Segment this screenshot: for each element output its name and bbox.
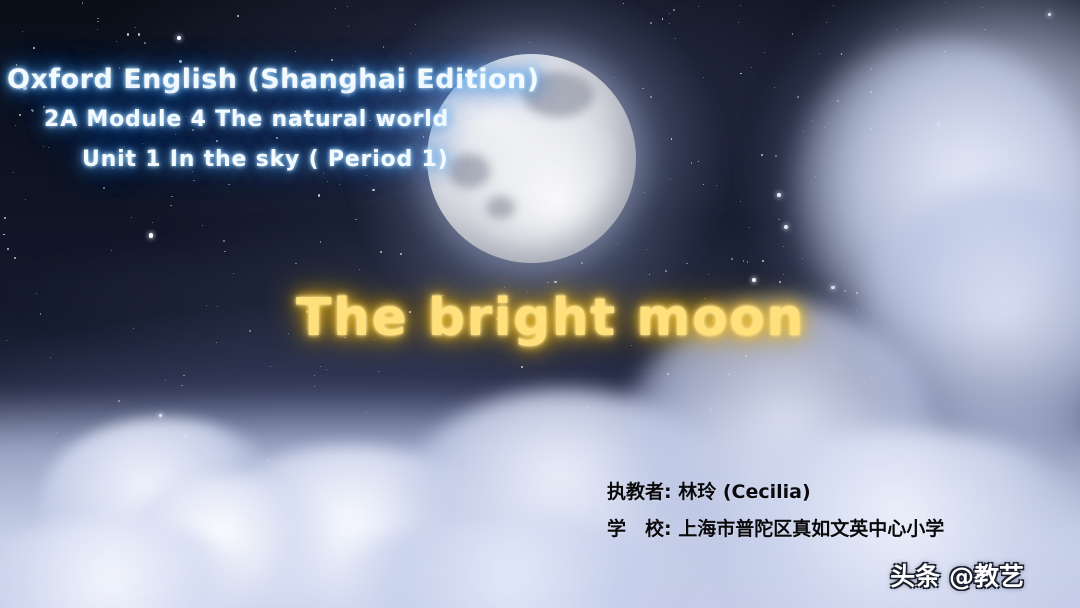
school-line: 学 校: 上海市普陀区真如文英中心小学	[607, 511, 944, 548]
heading-line-textbook: Oxford English (Shanghai Edition)	[7, 60, 1080, 100]
watermark: 头条 @教艺	[890, 562, 1024, 592]
teacher-line: 执教者: 林玲 (Cecilia)	[607, 474, 944, 511]
course-heading: Oxford English (Shanghai Edition) 2A Mod…	[0, 60, 1080, 180]
heading-line-module: 2A Module 4 The natural world	[44, 100, 1080, 140]
credits-block: 执教者: 林玲 (Cecilia) 学 校: 上海市普陀区真如文英中心小学	[607, 474, 944, 548]
heading-line-unit: Unit 1 In the sky ( Period 1)	[82, 140, 1080, 180]
presentation-slide: Oxford English (Shanghai Edition) 2A Mod…	[0, 0, 1080, 608]
page-title: The bright moon	[296, 289, 805, 347]
